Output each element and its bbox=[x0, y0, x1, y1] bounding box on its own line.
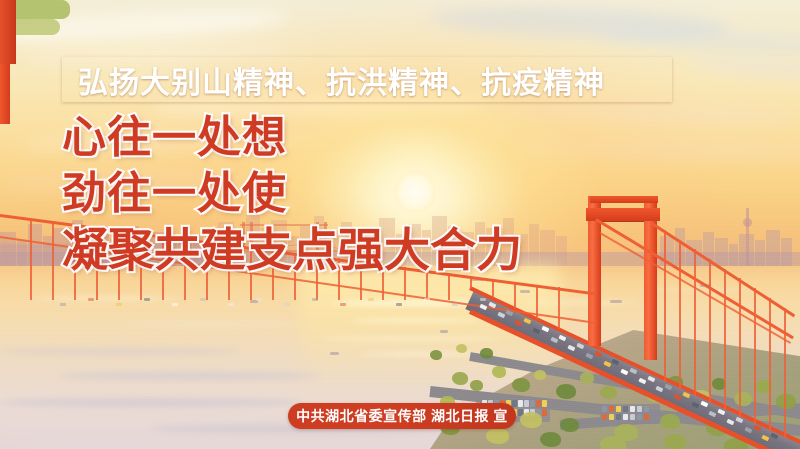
tree bbox=[664, 434, 686, 449]
parked-vehicle bbox=[623, 414, 628, 420]
parked-vehicle bbox=[644, 406, 649, 412]
parked-vehicle bbox=[630, 406, 635, 412]
headline-line-2: 劲往一处使 bbox=[62, 166, 622, 222]
tree bbox=[724, 438, 748, 449]
parked-vehicle bbox=[609, 406, 614, 412]
parked-vehicle bbox=[616, 406, 621, 412]
parked-vehicle bbox=[644, 414, 649, 420]
tree bbox=[706, 420, 728, 436]
boat bbox=[470, 278, 484, 281]
parked-vehicle bbox=[530, 400, 535, 407]
ribbon-text: 弘扬大别山精神、抗洪精神、抗疫精神 bbox=[62, 58, 605, 102]
boat bbox=[520, 290, 530, 293]
tree bbox=[646, 388, 665, 402]
tree bbox=[600, 436, 626, 449]
credit-text: 中共湖北省委宣传部 湖北日报 宣 bbox=[296, 406, 508, 426]
tree bbox=[560, 418, 579, 432]
tree bbox=[770, 432, 790, 447]
parked-vehicle bbox=[637, 414, 642, 420]
headline-block: 心往一处想 劲往一处使 凝聚共建支点强大合力 bbox=[62, 110, 622, 278]
boat bbox=[610, 300, 622, 303]
parked-vehicle bbox=[542, 409, 547, 416]
tree bbox=[452, 372, 468, 385]
tree bbox=[492, 366, 506, 378]
tree bbox=[660, 414, 680, 429]
parked-vehicle bbox=[609, 414, 614, 420]
headline-line-3: 凝聚共建支点强大合力 bbox=[62, 222, 622, 278]
grass-patch bbox=[0, 0, 70, 19]
tree bbox=[624, 374, 637, 385]
boat bbox=[440, 330, 448, 333]
parked-vehicle bbox=[623, 406, 628, 412]
tree bbox=[556, 384, 576, 399]
boat bbox=[700, 284, 711, 287]
grass-patch bbox=[0, 19, 60, 35]
tree bbox=[480, 348, 493, 359]
headline-line-1: 心往一处想 bbox=[62, 110, 622, 166]
parked-vehicle bbox=[542, 400, 547, 407]
parked-vehicle bbox=[616, 414, 621, 420]
tree bbox=[540, 432, 561, 447]
parked-vehicle bbox=[518, 400, 523, 407]
tree bbox=[430, 350, 442, 360]
parked-vehicle bbox=[602, 414, 607, 420]
poster-canvas: 武汉鹦鹉洲长江大桥 弘扬大别山精神、抗洪精神、抗疫精神 心往一处想 劲往一处使 … bbox=[0, 0, 800, 449]
parked-vehicle bbox=[602, 406, 607, 412]
parked-vehicle bbox=[637, 406, 642, 412]
tree bbox=[712, 378, 726, 390]
parked-vehicle bbox=[536, 400, 541, 407]
parked-vehicle bbox=[630, 414, 635, 420]
boat bbox=[250, 300, 258, 303]
tree bbox=[600, 386, 617, 399]
tree bbox=[512, 378, 530, 392]
tree bbox=[470, 380, 483, 391]
parked-vehicle bbox=[524, 400, 529, 407]
tree bbox=[456, 344, 467, 353]
credit-pill: 中共湖北省委宣传部 湖北日报 宣 bbox=[288, 403, 516, 429]
boat bbox=[330, 352, 339, 355]
slogan-ribbon: 弘扬大别山精神、抗洪精神、抗疫精神 bbox=[62, 57, 672, 102]
tree bbox=[756, 380, 772, 393]
parked-vehicle bbox=[512, 400, 517, 407]
tree bbox=[690, 390, 711, 406]
tree bbox=[776, 394, 796, 409]
tree bbox=[580, 372, 594, 384]
tree bbox=[534, 370, 546, 380]
tree bbox=[520, 412, 542, 428]
tree bbox=[734, 392, 752, 406]
tree bbox=[668, 376, 683, 388]
tree bbox=[486, 428, 509, 444]
